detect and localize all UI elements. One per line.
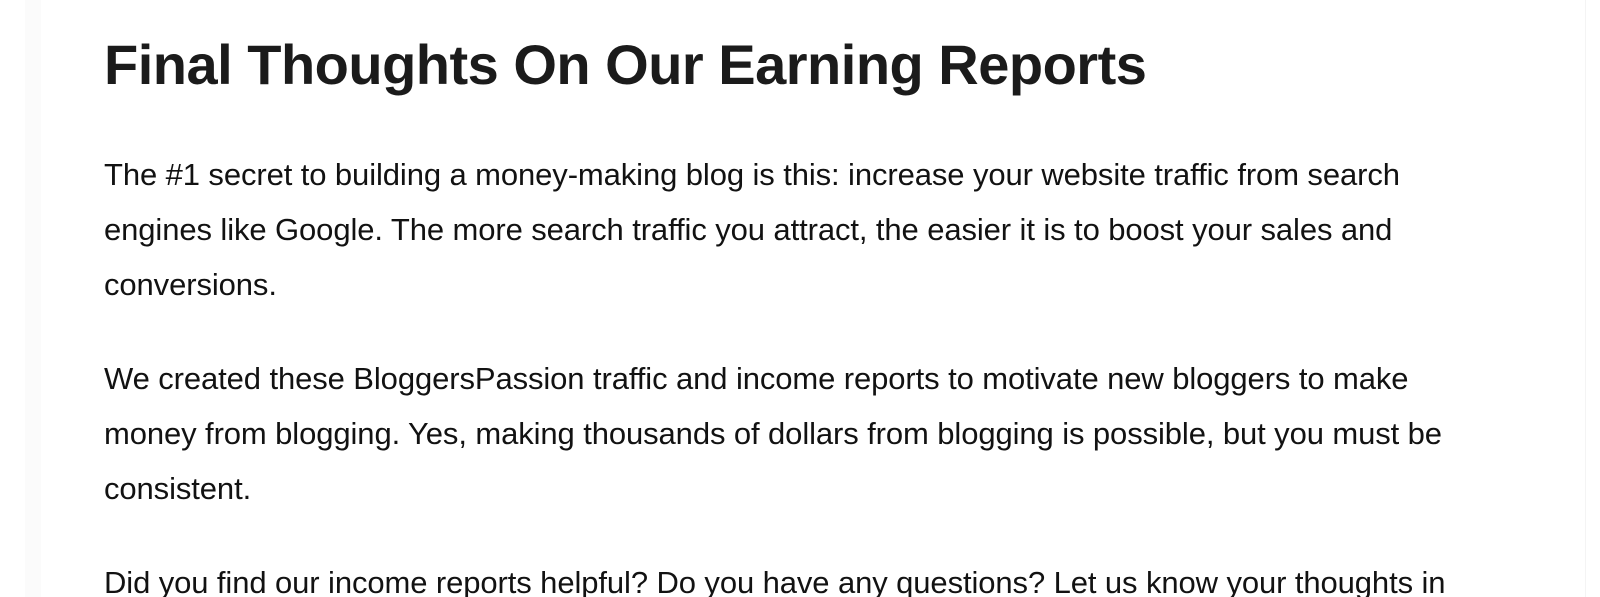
article-paragraph: The #1 secret to building a money-making… (104, 147, 1482, 312)
article-body: The #1 secret to building a money-making… (104, 147, 1482, 597)
article-screen: Final Thoughts On Our Earning Reports Th… (0, 0, 1600, 597)
left-gutter-band (25, 0, 41, 597)
article-content: Final Thoughts On Our Earning Reports Th… (104, 0, 1480, 597)
page-title: Final Thoughts On Our Earning Reports (104, 33, 1480, 97)
article-paragraph: Did you find our income reports helpful?… (104, 555, 1482, 597)
article-paragraph: We created these BloggersPassion traffic… (104, 351, 1482, 516)
right-edge-rule (1585, 0, 1586, 597)
